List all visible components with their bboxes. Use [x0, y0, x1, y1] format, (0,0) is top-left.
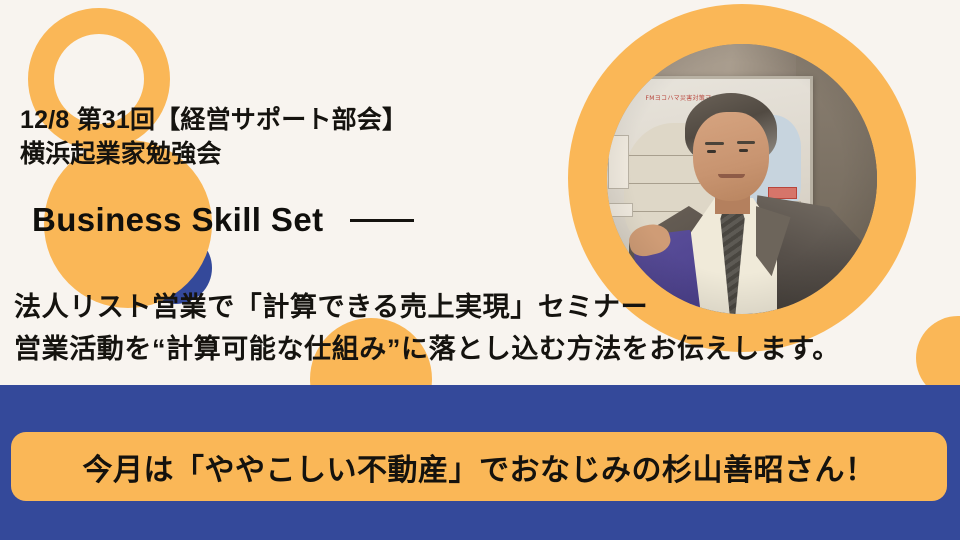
- photo-vignette: [607, 44, 877, 314]
- headline-line-1: 12/8 第31回【経営サポート部会】: [20, 106, 407, 134]
- series-title-text: Business Skill Set: [32, 201, 324, 239]
- event-headline: 12/8 第31回【経営サポート部会】 横浜起業家勉強会: [20, 104, 407, 171]
- description-line-1: 法人リスト営業で「計算できる売上実現」セミナー: [14, 292, 648, 322]
- title-dash-decoration: [350, 219, 414, 222]
- seminar-description: 法人リスト営業で「計算できる売上実現」セミナー 営業活動を“計算可能な仕組み”に…: [14, 286, 840, 371]
- speaker-photo: FMヨコハマ災害対策マップ: [607, 44, 877, 314]
- headline-line-2: 横浜起業家勉強会: [20, 140, 222, 168]
- series-title: Business Skill Set: [32, 201, 414, 239]
- seminar-poster: FMヨコハマ災害対策マップ: [0, 0, 960, 540]
- description-line-2: 営業活動を“計算可能な仕組み”に落とし込む方法をお伝えします。: [14, 334, 840, 364]
- guest-speaker-banner: 今月は「ややこしい不動産」でおなじみの杉山善昭さん！: [11, 432, 947, 501]
- guest-speaker-text: 今月は「ややこしい不動産」でおなじみの杉山善昭さん！: [83, 445, 876, 489]
